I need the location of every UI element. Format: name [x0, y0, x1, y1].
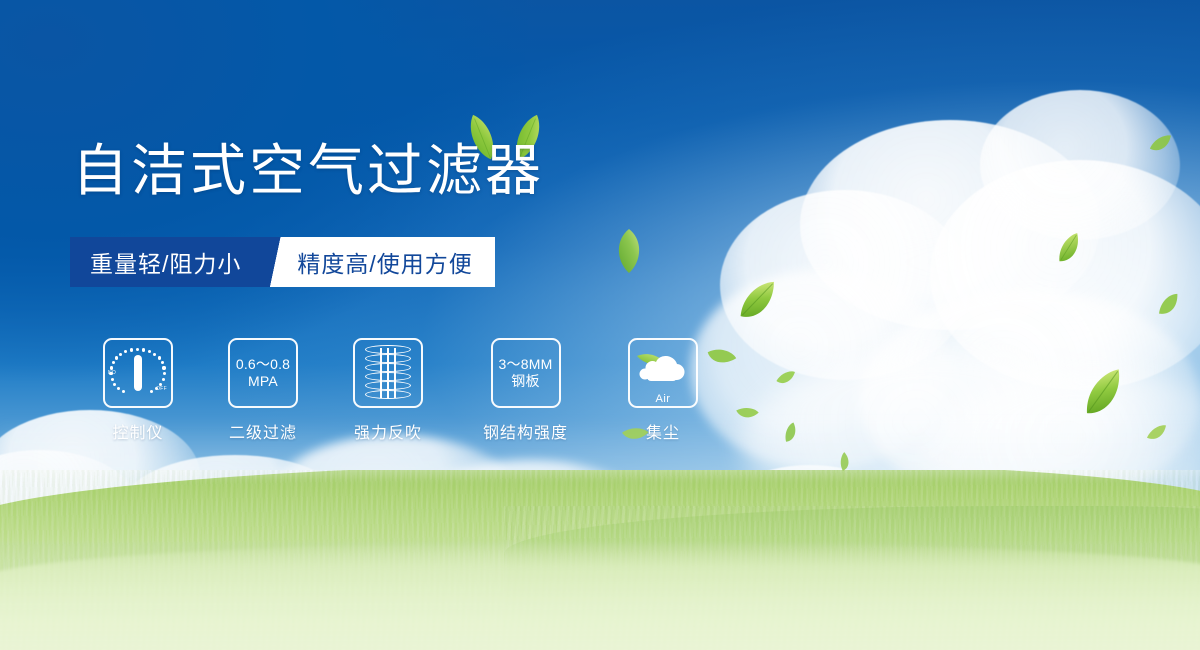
feature-list: NO OFF 控制仪 0.6～0.8 MPA 二级过滤	[78, 338, 723, 443]
feature-item-steel-strength[interactable]: 3～8MM 钢板 钢结构强度	[453, 338, 598, 443]
grass-foreground	[0, 542, 1200, 650]
feature-item-controller[interactable]: NO OFF 控制仪	[78, 338, 198, 443]
gauge-label-on: NO	[108, 370, 116, 376]
gauge-dial: NO OFF	[109, 346, 167, 400]
coil-icon	[353, 338, 423, 408]
cloud-shape: Air	[635, 353, 691, 393]
pressure-text-icon: 0.6～0.8 MPA	[228, 338, 298, 408]
steel-material: 钢板	[511, 373, 539, 390]
feature-item-dust-collection[interactable]: Air 集尘	[603, 338, 723, 443]
feature-label: 二级过滤	[229, 419, 297, 443]
grass-field	[0, 470, 1200, 650]
product-banner: 自洁式空气过滤器 重量轻/阻力小 精度高/使用方便	[0, 0, 1200, 650]
subtitle-bar: 重量轻/阻力小 精度高/使用方便	[70, 237, 495, 287]
subtitle-divider	[259, 237, 293, 287]
subtitle-right: 精度高/使用方便	[293, 237, 494, 287]
gauge-needle	[134, 355, 142, 391]
page-title: 自洁式空气过滤器	[72, 143, 544, 199]
gauge-icon: NO OFF	[103, 338, 173, 408]
feature-label: 集尘	[646, 419, 680, 443]
coil-shape	[365, 345, 411, 401]
cloud-air-icon: Air	[628, 338, 698, 408]
feature-label: 钢结构强度	[483, 419, 568, 443]
steel-thickness: 3～8MM	[499, 356, 553, 373]
air-label: Air	[635, 393, 691, 405]
pressure-range: 0.6～0.8	[236, 356, 290, 373]
grass-texture	[0, 542, 1200, 650]
pressure-unit: MPA	[248, 373, 278, 390]
feature-label: 强力反吹	[354, 419, 422, 443]
feature-label: 控制仪	[112, 419, 163, 443]
subtitle-left: 重量轻/阻力小	[70, 237, 259, 287]
gauge-label-off: OFF	[156, 386, 167, 392]
feature-item-two-stage-filter[interactable]: 0.6～0.8 MPA 二级过滤	[203, 338, 323, 443]
steel-text-icon: 3～8MM 钢板	[491, 338, 561, 408]
feature-item-strong-blowback[interactable]: 强力反吹	[328, 338, 448, 443]
